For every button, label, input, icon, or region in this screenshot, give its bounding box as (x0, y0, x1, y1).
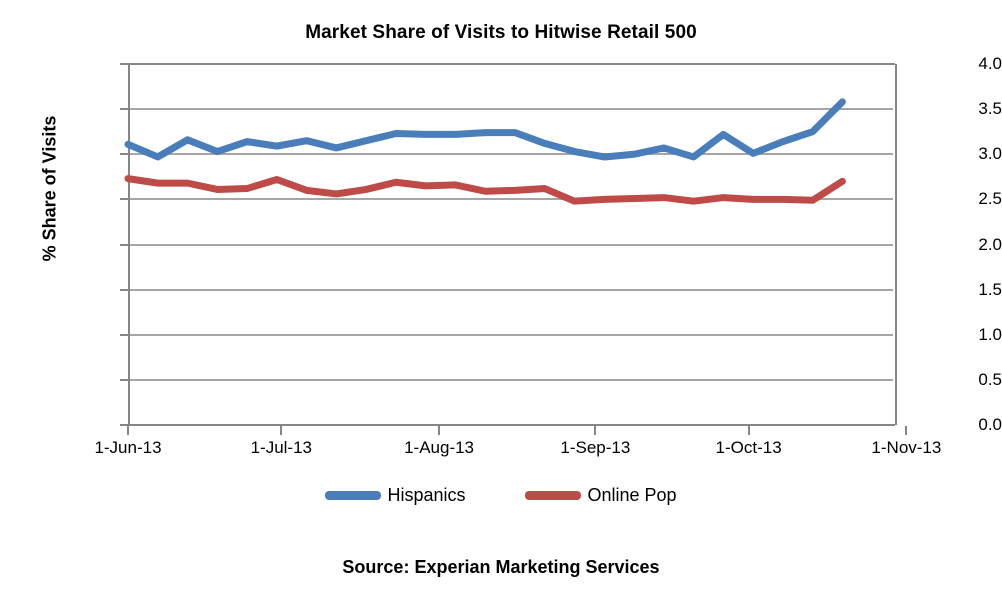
x-tick-mark (594, 426, 596, 435)
x-tick-label: 1-Oct-13 (669, 438, 829, 458)
x-tick-mark (905, 426, 907, 435)
x-tick-mark (280, 426, 282, 435)
x-tick-mark (127, 426, 129, 435)
y-tick-label: 0.5 (898, 371, 1002, 388)
legend-swatch-icon (325, 491, 381, 500)
x-tick-label: 1-Jul-13 (201, 438, 361, 458)
y-tick-label: 3.5 (898, 100, 1002, 117)
legend-item-hispanics[interactable]: Hispanics (325, 486, 465, 504)
chart-title: Market Share of Visits to Hitwise Retail… (0, 22, 1002, 44)
legend-item-online-pop[interactable]: Online Pop (525, 486, 676, 504)
y-tick-label: 0.0 (898, 416, 1002, 433)
x-tick-mark (748, 426, 750, 435)
chart-legend: HispanicsOnline Pop (0, 486, 1002, 504)
y-tick-label: 4.0 (898, 55, 1002, 72)
y-tick-label: 2.5 (898, 190, 1002, 207)
plot-area (128, 64, 897, 425)
x-tick-label: 1-Nov-13 (826, 438, 986, 458)
chart-container: Market Share of Visits to Hitwise Retail… (0, 0, 1002, 599)
y-tick-label: 1.5 (898, 281, 1002, 298)
legend-swatch-icon (525, 491, 581, 500)
y-tick-label: 3.0 (898, 145, 1002, 162)
x-tick-label: 1-Sep-13 (515, 438, 675, 458)
y-tick-label: 1.0 (898, 326, 1002, 343)
source-note: Source: Experian Marketing Services (0, 557, 1002, 578)
x-tick-label: 1-Aug-13 (359, 438, 519, 458)
legend-label: Hispanics (387, 486, 465, 504)
y-tick-label: 2.0 (898, 236, 1002, 253)
y-axis-title: % Share of Visits (40, 79, 61, 299)
legend-label: Online Pop (587, 486, 676, 504)
x-tick-mark (438, 426, 440, 435)
x-tick-label: 1-Jun-13 (48, 438, 208, 458)
